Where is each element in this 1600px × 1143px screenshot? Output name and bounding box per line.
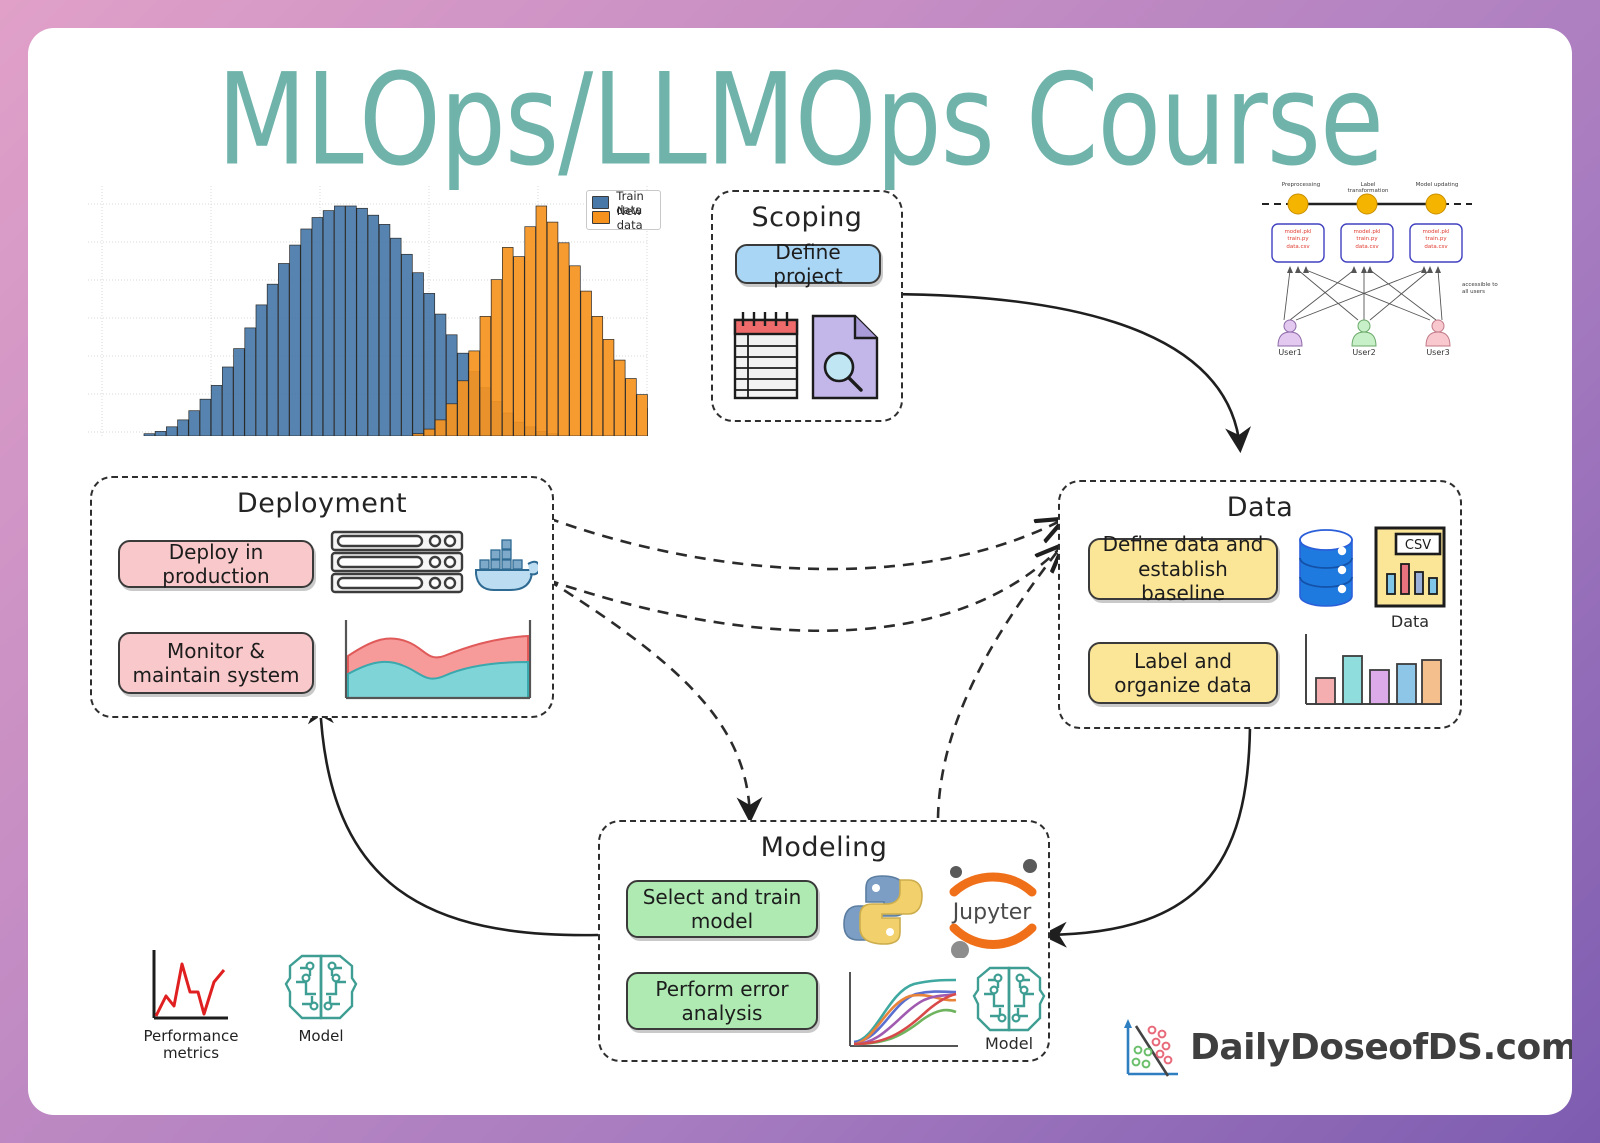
mini-card-0: model.pkl train.py data.csv bbox=[1272, 229, 1324, 251]
arrow-modeling-up bbox=[938, 548, 1060, 818]
mini-side-note: accessible to all users bbox=[1462, 282, 1502, 296]
brand-text: DailyDoseofDS.com bbox=[1190, 1027, 1572, 1068]
mini-node-label-2: Model updating bbox=[1414, 182, 1460, 188]
user-avatars bbox=[1278, 320, 1450, 346]
legend-label-new: New data bbox=[617, 204, 653, 232]
svg-text:CSV: CSV bbox=[1405, 538, 1431, 553]
scoping-title: Scoping bbox=[713, 202, 901, 233]
legend-swatch-new bbox=[592, 211, 610, 224]
scoping-icons bbox=[731, 304, 891, 408]
performance-metrics-icon bbox=[148, 948, 232, 1024]
mini-user-label-1: User2 bbox=[1342, 348, 1386, 357]
deployment-pill-monitor[interactable]: Monitor & maintain system bbox=[118, 632, 314, 694]
mini-user-label-2: User3 bbox=[1416, 348, 1460, 357]
server-rack-icon bbox=[332, 532, 462, 592]
jupyter-label: Jupyter bbox=[940, 900, 1044, 925]
modeling-pill-select-train[interactable]: Select and train model bbox=[626, 880, 818, 938]
csv-file-icon: CSV bbox=[1376, 528, 1444, 606]
mini-card-1: model.pkl train.py data.csv bbox=[1341, 229, 1393, 251]
area-chart-icon bbox=[342, 618, 538, 702]
arrow-modeling-to-deployment bbox=[320, 703, 598, 935]
page-title: MLOps/LLMOps Course bbox=[28, 56, 1572, 183]
stage-scoping[interactable]: Scoping Define project bbox=[711, 190, 903, 422]
line-chart-icon bbox=[844, 970, 962, 1052]
database-icon bbox=[1300, 530, 1352, 606]
deployment-pill-deploy[interactable]: Deploy in production bbox=[118, 540, 314, 588]
data-pill-label-organize[interactable]: Label and organize data bbox=[1088, 642, 1278, 704]
poster-canvas: MLOps/LLMOps Course bbox=[28, 28, 1572, 1115]
drift-histogram-chart: Train data New data bbox=[88, 186, 648, 436]
stage-data[interactable]: Data Define data and establish baseline … bbox=[1058, 480, 1462, 729]
legend-entry-new: New data bbox=[592, 210, 653, 225]
arrow-data-to-modeling bbox=[1046, 708, 1250, 935]
scoping-pill-define-project[interactable]: Define project bbox=[735, 244, 881, 284]
brand-logo[interactable]: DailyDoseofDS.com bbox=[1118, 1016, 1572, 1078]
model-label: Model bbox=[276, 1028, 366, 1045]
arrow-deployment-to-modeling bbox=[548, 580, 750, 818]
mini-diagram-svg bbox=[1258, 178, 1488, 358]
bar-chart-icon bbox=[1298, 630, 1448, 712]
data-pill-define-baseline[interactable]: Define data and establish baseline bbox=[1088, 538, 1278, 600]
model-brain-icon-legend bbox=[280, 950, 362, 1026]
stage-deployment[interactable]: Deployment Deploy in production Monitor … bbox=[90, 476, 554, 718]
stage-modeling[interactable]: Modeling Select and train model Perform … bbox=[598, 820, 1050, 1062]
deployment-icons-top bbox=[328, 530, 538, 598]
performance-metrics-label: Performance metrics bbox=[136, 1028, 246, 1063]
histogram-svg bbox=[88, 186, 648, 436]
model-brain-icon bbox=[968, 962, 1050, 1038]
experiment-tracking-diagram: Preprocessing Label transformation Model… bbox=[1258, 178, 1488, 358]
mini-node-label-1: Label transformation bbox=[1342, 182, 1394, 194]
arrow-deployment-to-data bbox=[548, 518, 1060, 569]
histogram-bars bbox=[144, 206, 648, 436]
data-icons-top: CSV bbox=[1292, 524, 1452, 620]
scatter-plot-logo bbox=[1118, 1016, 1180, 1078]
chart-legend: Train data New data bbox=[586, 190, 661, 230]
arrow-modeling-to-data-lower bbox=[548, 548, 1060, 631]
data-title: Data bbox=[1060, 492, 1460, 523]
mini-card-2: model.pkl train.py data.csv bbox=[1410, 229, 1462, 251]
deployment-title: Deployment bbox=[92, 488, 552, 519]
legend-swatch-train bbox=[592, 196, 609, 209]
data-icon-caption: Data bbox=[1376, 612, 1444, 631]
mini-node-label-0: Preprocessing bbox=[1280, 182, 1322, 188]
arrow-scoping-to-data bbox=[880, 294, 1240, 448]
modeling-pill-error-analysis[interactable]: Perform error analysis bbox=[626, 972, 818, 1030]
mini-user-label-0: User1 bbox=[1268, 348, 1312, 357]
modeling-icon-caption: Model bbox=[968, 1034, 1050, 1053]
document-search-icon bbox=[813, 316, 877, 398]
python-icon bbox=[836, 870, 930, 950]
notepad-icon bbox=[735, 312, 797, 398]
docker-icon bbox=[476, 540, 538, 590]
